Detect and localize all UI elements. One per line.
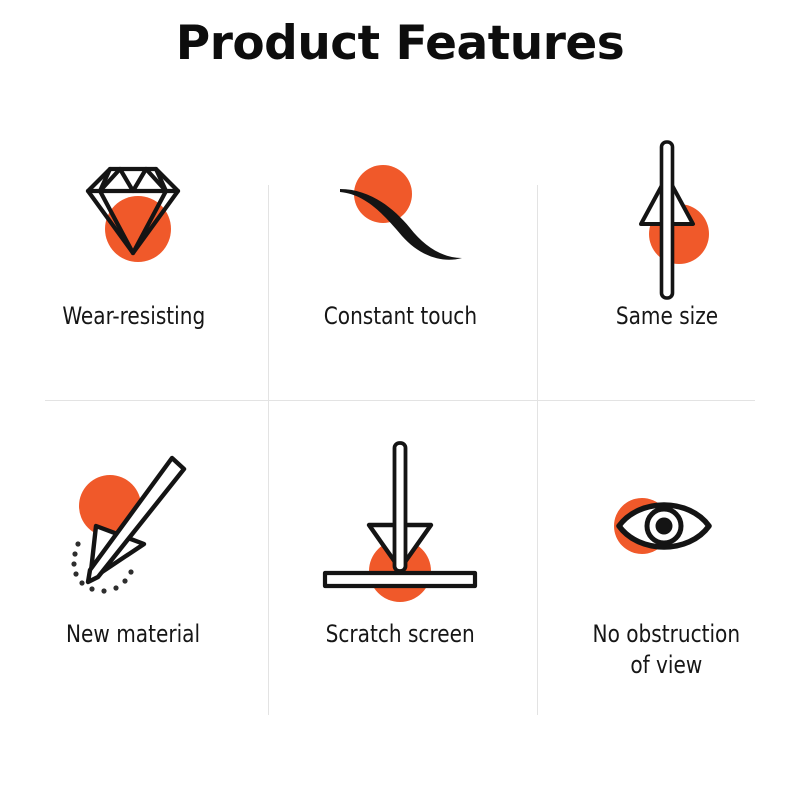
stylus-vertical-icon bbox=[597, 128, 737, 308]
features-grid: Wear-resisting Constant touch bbox=[0, 130, 800, 730]
icon-container-wear-resisting bbox=[43, 130, 223, 305]
grid-divider-vertical-right bbox=[537, 185, 538, 715]
feature-label-scratch-screen: Scratch screen bbox=[325, 619, 474, 650]
grid-divider-vertical-left bbox=[268, 185, 269, 715]
icon-container-same-size bbox=[577, 130, 757, 305]
icon-container-scratch-screen bbox=[310, 430, 490, 625]
brush-stroke-icon bbox=[320, 148, 480, 288]
feature-label-new-material: New material bbox=[66, 619, 200, 650]
page-title: Product Features bbox=[0, 18, 800, 70]
feature-cell-same-size: Same size bbox=[533, 130, 800, 430]
feature-cell-scratch-screen: Scratch screen bbox=[267, 430, 534, 730]
feature-label-same-size: Same size bbox=[616, 301, 718, 332]
grid-divider-horizontal bbox=[45, 400, 755, 401]
feature-cell-no-obstruction-of-view: No obstruction of view bbox=[533, 430, 800, 730]
stylus-on-screen-icon bbox=[305, 435, 495, 620]
diamond-icon bbox=[58, 143, 208, 293]
feature-cell-constant-touch: Constant touch bbox=[267, 130, 534, 430]
feature-label-no-obstruction-of-view: No obstruction of view bbox=[593, 619, 741, 680]
stylus-tilted-drawing-icon bbox=[48, 438, 218, 618]
feature-cell-new-material: New material bbox=[0, 430, 267, 730]
feature-cell-wear-resisting: Wear-resisting bbox=[0, 130, 267, 430]
eye-icon bbox=[587, 468, 747, 588]
product-features-infographic: Product Features Wear-r bbox=[0, 0, 800, 800]
icon-container-constant-touch bbox=[310, 130, 490, 305]
icon-container-new-material bbox=[43, 430, 223, 625]
feature-label-wear-resisting: Wear-resisting bbox=[62, 301, 205, 332]
feature-label-constant-touch: Constant touch bbox=[323, 301, 476, 332]
icon-container-no-obstruction-of-view bbox=[577, 430, 757, 625]
screen-bar bbox=[325, 573, 475, 586]
